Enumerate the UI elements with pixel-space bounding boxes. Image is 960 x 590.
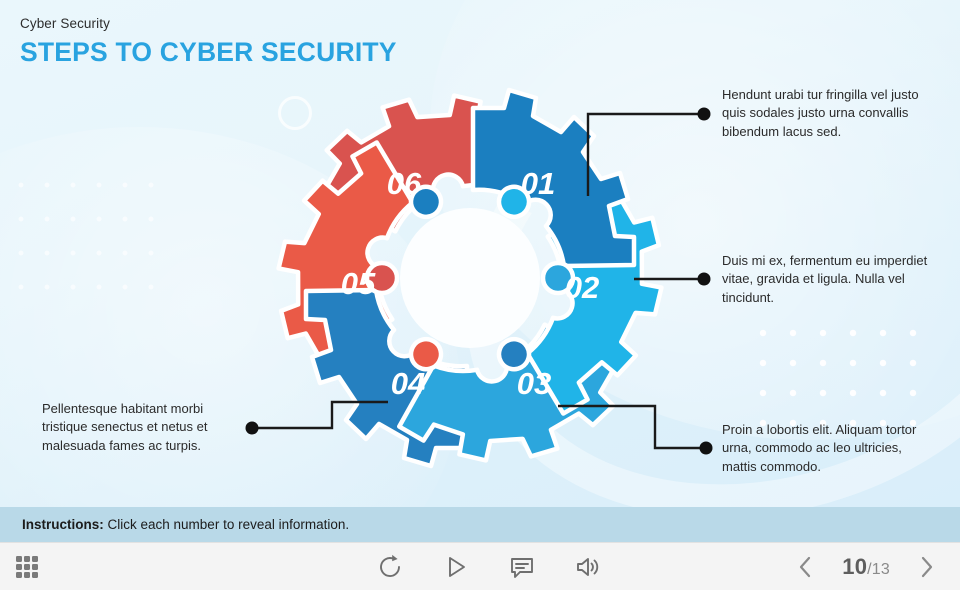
instructions-label: Instructions: <box>22 517 104 532</box>
slide-stage: Cyber Security STEPS TO CYBER SECURITY <box>0 0 960 507</box>
instructions-bar: Instructions: Click each number to revea… <box>0 507 960 542</box>
puzzle-knob-03-02 <box>543 263 573 293</box>
callout-text-01: Hendunt urabi tur fringilla vel justo qu… <box>722 86 936 141</box>
callout-text-02: Duis mi ex, fermentum eu imperdiet vitae… <box>722 252 936 307</box>
gear-diagram-svg: 01 02 03 04 05 06 <box>272 80 668 476</box>
volume-icon <box>575 554 601 580</box>
menu-button[interactable] <box>14 552 40 585</box>
header: Cyber Security STEPS TO CYBER SECURITY <box>20 16 397 68</box>
instructions-text: Instructions: Click each number to revea… <box>0 517 349 532</box>
total-pages: 13 <box>872 561 890 578</box>
gear-puzzle-diagram: 01 02 03 04 05 06 <box>272 80 668 476</box>
playback-controls <box>375 543 603 590</box>
replay-icon <box>377 554 403 580</box>
volume-button[interactable] <box>573 552 603 582</box>
slide: Cyber Security STEPS TO CYBER SECURITY <box>0 0 960 590</box>
callout-text-04: Pellentesque habitant morbi tristique se… <box>42 400 242 455</box>
gear-hub <box>400 208 540 348</box>
dot-pattern-left <box>8 168 158 318</box>
play-icon <box>443 554 469 580</box>
previous-slide-button[interactable] <box>790 552 820 582</box>
current-page: 10 <box>842 554 867 579</box>
chevron-left-icon <box>794 554 816 580</box>
connector-dot-04 <box>246 422 259 435</box>
page-indicator: 10/13 <box>842 554 890 580</box>
connector-dot-02 <box>698 273 711 286</box>
captions-icon <box>509 554 535 580</box>
dot-pattern-right <box>748 318 928 438</box>
next-slide-button[interactable] <box>912 552 942 582</box>
callout-text-03: Proin a lobortis elit. Aliquam tortor ur… <box>722 421 936 476</box>
captions-button[interactable] <box>507 552 537 582</box>
eyebrow-text: Cyber Security <box>20 16 397 32</box>
replay-button[interactable] <box>375 552 405 582</box>
grid-menu-icon <box>14 552 40 580</box>
connector-dot-03 <box>700 442 713 455</box>
player-bar: 10/13 <box>0 542 960 590</box>
instructions-body: Click each number to reveal information. <box>104 517 349 532</box>
chevron-right-icon <box>916 554 938 580</box>
puzzle-knob-06-05 <box>367 263 397 293</box>
play-button[interactable] <box>441 552 471 582</box>
page-title: STEPS TO CYBER SECURITY <box>20 37 397 67</box>
connector-dot-01 <box>698 108 711 121</box>
page-navigation: 10/13 <box>790 543 942 590</box>
